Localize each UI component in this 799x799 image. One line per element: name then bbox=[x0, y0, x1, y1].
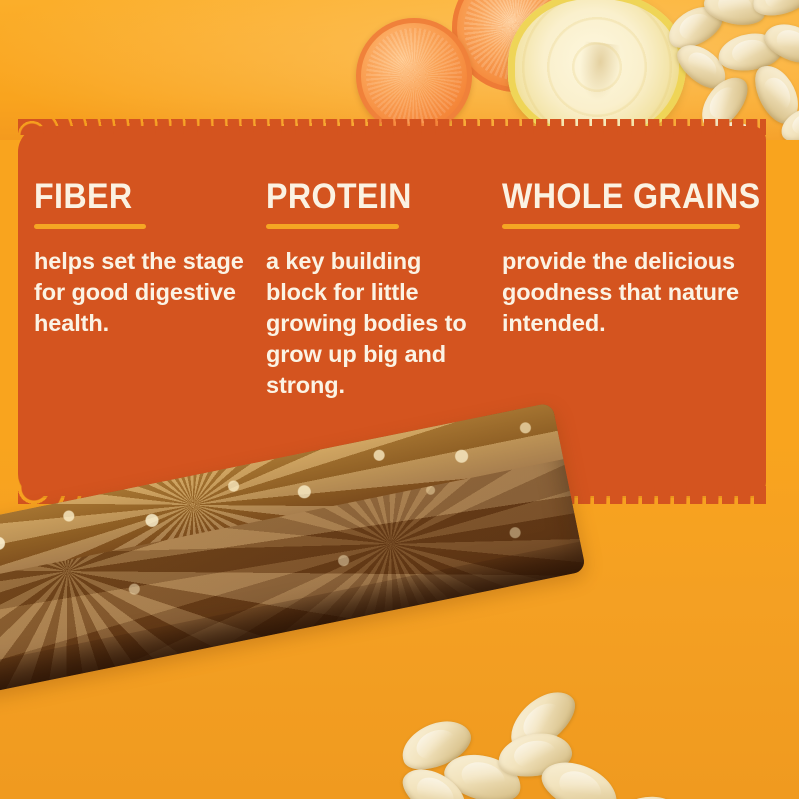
benefit-heading-protein: PROTEIN bbox=[266, 178, 467, 216]
benefit-heading-fiber: FIBER bbox=[34, 178, 231, 216]
granola-bar-top-surface bbox=[0, 402, 563, 582]
carrot-slice-photo bbox=[356, 18, 472, 134]
heading-underline bbox=[34, 224, 146, 229]
benefit-body-fiber: helps set the stage for good digestive h… bbox=[34, 246, 248, 339]
oat-flakes-photo bbox=[392, 690, 722, 799]
benefit-heading-whole-grains: WHOLE GRAINS bbox=[502, 178, 734, 216]
heading-underline bbox=[502, 224, 740, 229]
nutrition-benefits-graphic: FIBER helps set the stage for good diges… bbox=[0, 0, 799, 799]
granola-bar-body bbox=[0, 402, 586, 694]
heading-underline bbox=[266, 224, 399, 229]
